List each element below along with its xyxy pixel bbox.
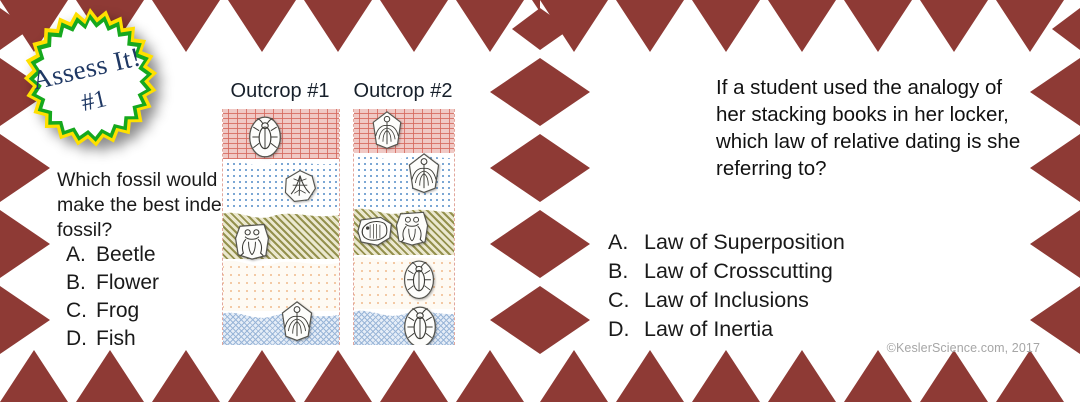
assess-it-badge-1: Assess It! #1 [8,8,172,160]
choice-d-1-label: Fish [96,325,136,353]
outcrop-2-title: Outcrop #2 [353,80,453,103]
choice-b-1[interactable]: B. Flower [66,269,159,297]
choice-c-2[interactable]: C. Law of Inclusions [608,286,845,315]
fossil-beetle [247,115,283,159]
rock-layer-brick-red [353,109,455,153]
answer-choices-2: A. Law of Superposition B. Law of Crossc… [608,228,845,344]
choice-c-1-letter: C. [66,297,96,325]
outcrop-column-1 [222,109,340,345]
slide-canvas: Assess It! #1 Which fossil would make th… [0,0,1080,402]
choice-b-2[interactable]: B. Law of Crosscutting [608,257,845,286]
fossil-leaf [283,169,317,203]
rock-layer-dots-blue [222,155,340,211]
choice-c-2-label: Law of Inclusions [644,286,809,315]
choice-a-1-label: Beetle [96,241,156,269]
choice-c-1-label: Frog [96,297,139,325]
task-card-1: Assess It! #1 Which fossil would make th… [0,0,540,402]
choice-b-2-label: Law of Crosscutting [644,257,833,286]
fossil-flower [406,153,442,193]
choice-c-1[interactable]: C. Frog [66,297,159,325]
copyright-notice: ©KeslerScience.com, 2017 [887,341,1040,355]
answer-choices-1: A. Beetle B. Flower C. Frog D. Fish [66,241,159,353]
fossil-flower [279,301,315,341]
fossil-fish [356,215,394,248]
fossil-frog [394,209,430,247]
choice-b-1-letter: B. [66,269,96,297]
question-text-2: If a student used the analogy of her sta… [716,74,1034,182]
choice-a-2-letter: A. [608,228,644,257]
choice-d-1[interactable]: D. Fish [66,325,159,353]
task-card-2: Assess It! #2 If a student used the anal… [540,0,1080,402]
choice-a-1-letter: A. [66,241,96,269]
fossil-flower [370,111,404,149]
outcrop-column-2 [353,109,455,345]
outcrop-1-title: Outcrop #1 [222,80,338,103]
fossil-beetle [402,305,438,345]
choice-d-2-label: Law of Inertia [644,315,773,344]
choice-b-1-label: Flower [96,269,159,297]
starburst-icon [8,8,172,160]
choice-d-2[interactable]: D. Law of Inertia [608,315,845,344]
fossil-beetle [402,259,436,300]
choice-a-1[interactable]: A. Beetle [66,241,159,269]
choice-b-2-letter: B. [608,257,644,286]
choice-d-1-letter: D. [66,325,96,353]
fossil-frog [233,221,271,261]
choice-c-2-letter: C. [608,286,644,315]
question-text-1: Which fossil would make the best index f… [57,168,232,243]
choice-a-2-label: Law of Superposition [644,228,845,257]
choice-d-2-letter: D. [608,315,644,344]
choice-a-2[interactable]: A. Law of Superposition [608,228,845,257]
